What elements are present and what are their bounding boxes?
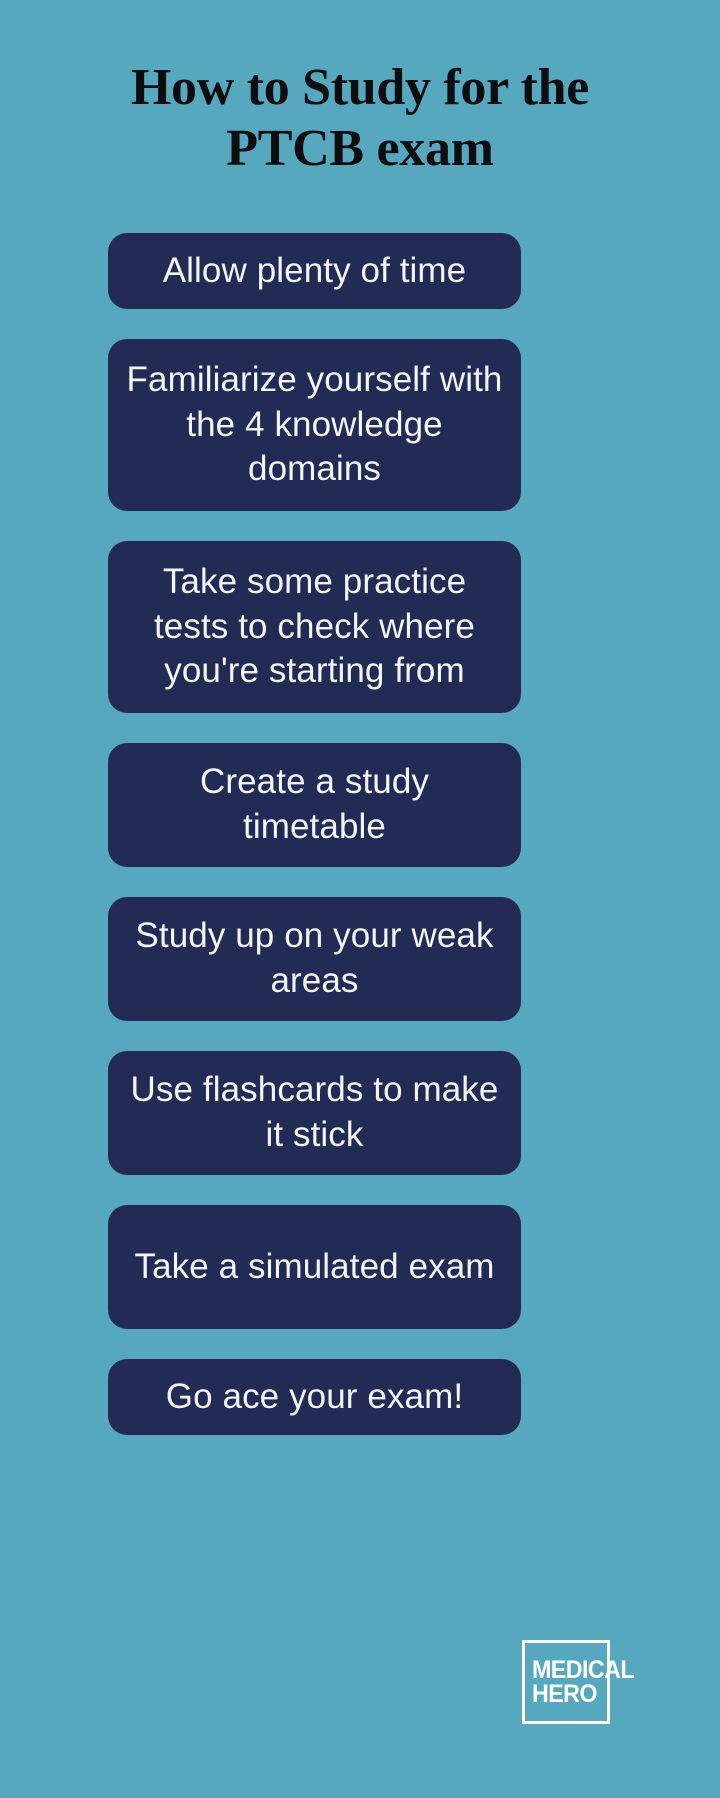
- step-card-3[interactable]: Take some practice tests to check where …: [108, 541, 521, 713]
- step-card-8[interactable]: Go ace your exam!: [108, 1359, 521, 1435]
- step-card-6[interactable]: Use flashcards to make it stick: [108, 1051, 521, 1175]
- step-card-7-label: Take a simulated exam: [124, 1245, 505, 1290]
- step-card-4[interactable]: Create a study timetable: [108, 743, 521, 867]
- page-title-line-2: PTCB exam: [40, 119, 680, 180]
- step-card-5[interactable]: Study up on your weak areas: [108, 897, 521, 1021]
- step-card-1-label: Allow plenty of time: [124, 249, 505, 294]
- steps-list: Allow plenty of time Familiarize yoursel…: [108, 233, 521, 1465]
- logo-line-1: MEDICAL: [532, 1658, 634, 1683]
- step-card-7[interactable]: Take a simulated exam: [108, 1205, 521, 1329]
- page-title: How to Study for the PTCB exam: [40, 58, 680, 180]
- step-card-1[interactable]: Allow plenty of time: [108, 233, 521, 309]
- step-card-4-label: Create a study timetable: [124, 760, 505, 850]
- step-card-2[interactable]: Familiarize yourself with the 4 knowledg…: [108, 339, 521, 511]
- step-card-3-label: Take some practice tests to check where …: [124, 560, 505, 694]
- infographic-root: How to Study for the PTCB exam Allow ple…: [0, 0, 720, 1798]
- step-card-6-label: Use flashcards to make it stick: [124, 1068, 505, 1158]
- step-card-2-label: Familiarize yourself with the 4 knowledg…: [124, 358, 505, 492]
- page-title-line-1: How to Study for the: [40, 58, 680, 119]
- logo-line-2: HERO: [532, 1682, 597, 1707]
- step-card-5-label: Study up on your weak areas: [124, 914, 505, 1004]
- medical-hero-logo: MEDICAL HERO: [522, 1640, 610, 1724]
- step-card-8-label: Go ace your exam!: [124, 1375, 505, 1420]
